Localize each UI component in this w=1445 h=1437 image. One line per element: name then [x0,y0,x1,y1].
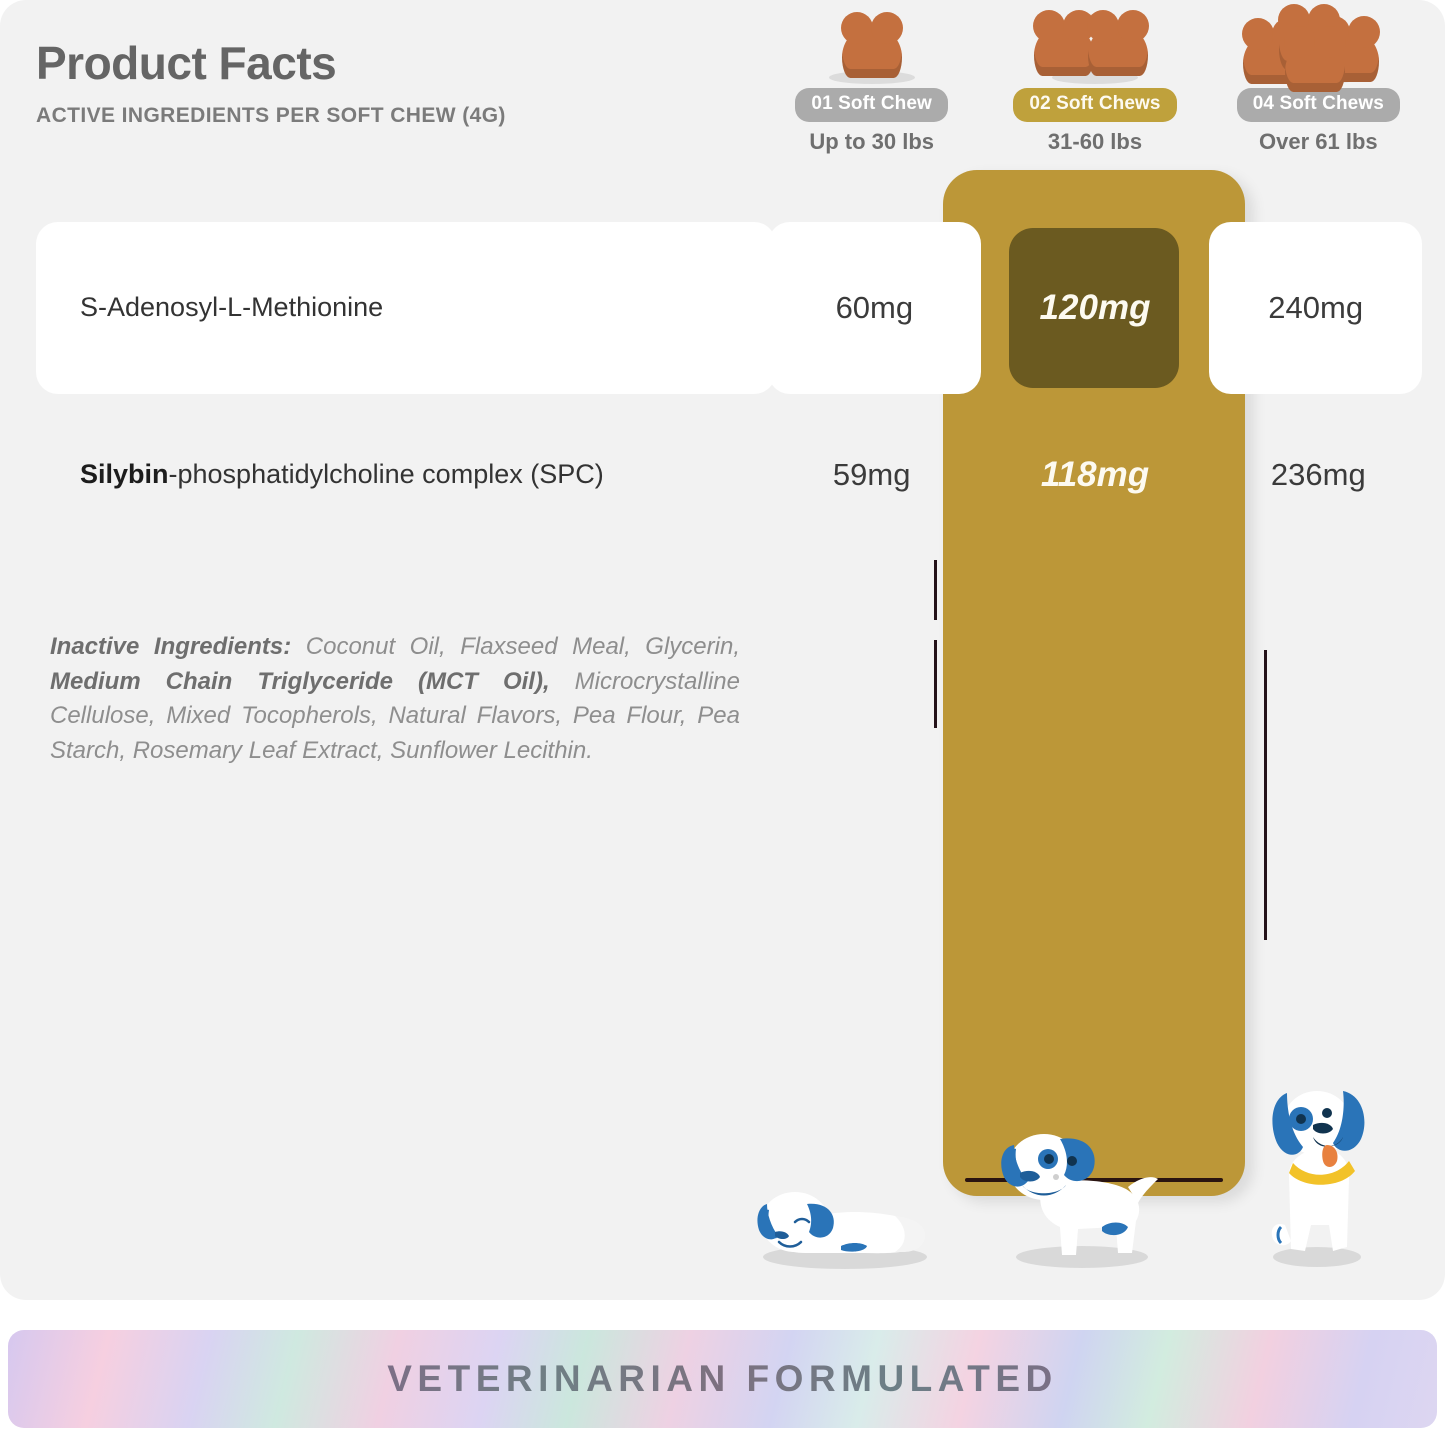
dose-cell-1: 59mg [760,418,983,532]
ingredient-name-bold: Silybin [80,459,169,489]
dog-cheek-dot [1053,1174,1059,1180]
column-edge-line-right [1264,650,1267,940]
heart-chew-icon [1034,24,1094,76]
page-title: Product Facts [36,40,336,86]
dose-value-cells: 59mg 118mg 236mg [760,418,1430,532]
dose-cell-3: 240mg [1209,222,1422,394]
dose-badge-1: 01 Soft Chew [795,88,948,122]
page-subtitle: ACTIVE INGREDIENTS PER SOFT CHEW (4G) [36,104,506,128]
heart-chew-icon [1285,40,1345,92]
ingredient-name: S-Adenosyl-L-Methionine [80,287,383,329]
dose-badge-3: 04 Soft Chews [1237,88,1400,122]
column-edge-line-left-upper [934,560,937,620]
veterinarian-formulated-banner: VETERINARIAN FORMULATED [8,1330,1437,1428]
dose-badge-2: 02 Soft Chews [1013,88,1176,122]
dose-weight-1: Up to 30 lbs [809,129,934,155]
dose-weight-2: 31-60 lbs [1048,129,1142,155]
dose-value: 60mg [836,290,914,326]
dog-eye-2 [1067,1156,1077,1166]
dose-value: 118mg [1041,455,1149,495]
dose-cell-2: 118mg [983,418,1206,532]
ingredient-name: Silybin-phosphatidylcholine complex (SPC… [80,454,604,496]
inactive-ingredients-label: Inactive Ingredients: [50,633,291,660]
heart-chew-icon [1088,24,1148,76]
dose-column-header-1: 01 Soft Chew Up to 30 lbs [760,14,983,164]
four-soft-chews-icon [1233,14,1403,86]
dose-column-headers: 01 Soft Chew Up to 30 lbs 02 Soft Chews … [760,14,1430,164]
dose-column-header-3: 04 Soft Chews Over 61 lbs [1207,14,1430,164]
ingredient-name-rest: -phosphatidylcholine complex (SPC) [169,459,604,489]
dog-eye [1044,1154,1054,1164]
dose-value: 120mg [1040,288,1151,328]
inactive-ingredients-before: Coconut Oil, Flaxseed Meal, Glycerin, [291,633,740,660]
inactive-ingredients-emphasis: Medium Chain Triglyceride (MCT Oil), [50,668,550,695]
dose-value: 240mg [1268,290,1363,326]
banner-text: VETERINARIAN FORMULATED [387,1358,1058,1400]
dose-cell-3: 236mg [1207,418,1430,532]
dose-cell-1: 60mg [768,222,981,394]
two-soft-chews-icon [1010,14,1180,86]
dose-column-header-2: 02 Soft Chews 31-60 lbs [983,14,1206,164]
one-soft-chew-icon [787,14,957,86]
dog-eye-2 [1322,1108,1332,1118]
ingredient-row: S-Adenosyl-L-Methionine 60mg 120mg 240mg [0,222,1445,394]
lying-puppy-illustration [745,1160,945,1270]
dog-shadow [1273,1247,1361,1267]
dose-value: 236mg [1271,457,1366,493]
product-facts-card: Product Facts ACTIVE INGREDIENTS PER SOF… [0,0,1445,1300]
dose-value: 59mg [833,457,911,493]
dog-body [1289,1149,1349,1251]
dose-value-cells: 60mg 120mg 240mg [760,222,1430,394]
inactive-ingredients-paragraph: Inactive Ingredients: Coconut Oil, Flaxs… [50,630,740,768]
sitting-puppy-illustration [1255,1075,1380,1270]
dog-eye [1296,1114,1306,1124]
column-edge-line-left-lower [934,640,937,728]
dose-weight-3: Over 61 lbs [1259,129,1378,155]
ingredient-name-cell: S-Adenosyl-L-Methionine [36,222,776,394]
dose-cell-2: 120mg [989,222,1202,394]
heart-chew-icon [842,26,902,78]
walking-puppy-illustration [990,1115,1165,1270]
ingredient-row: Silybin-phosphatidylcholine complex (SPC… [0,418,1445,532]
ingredient-name-cell: Silybin-phosphatidylcholine complex (SPC… [36,418,776,532]
